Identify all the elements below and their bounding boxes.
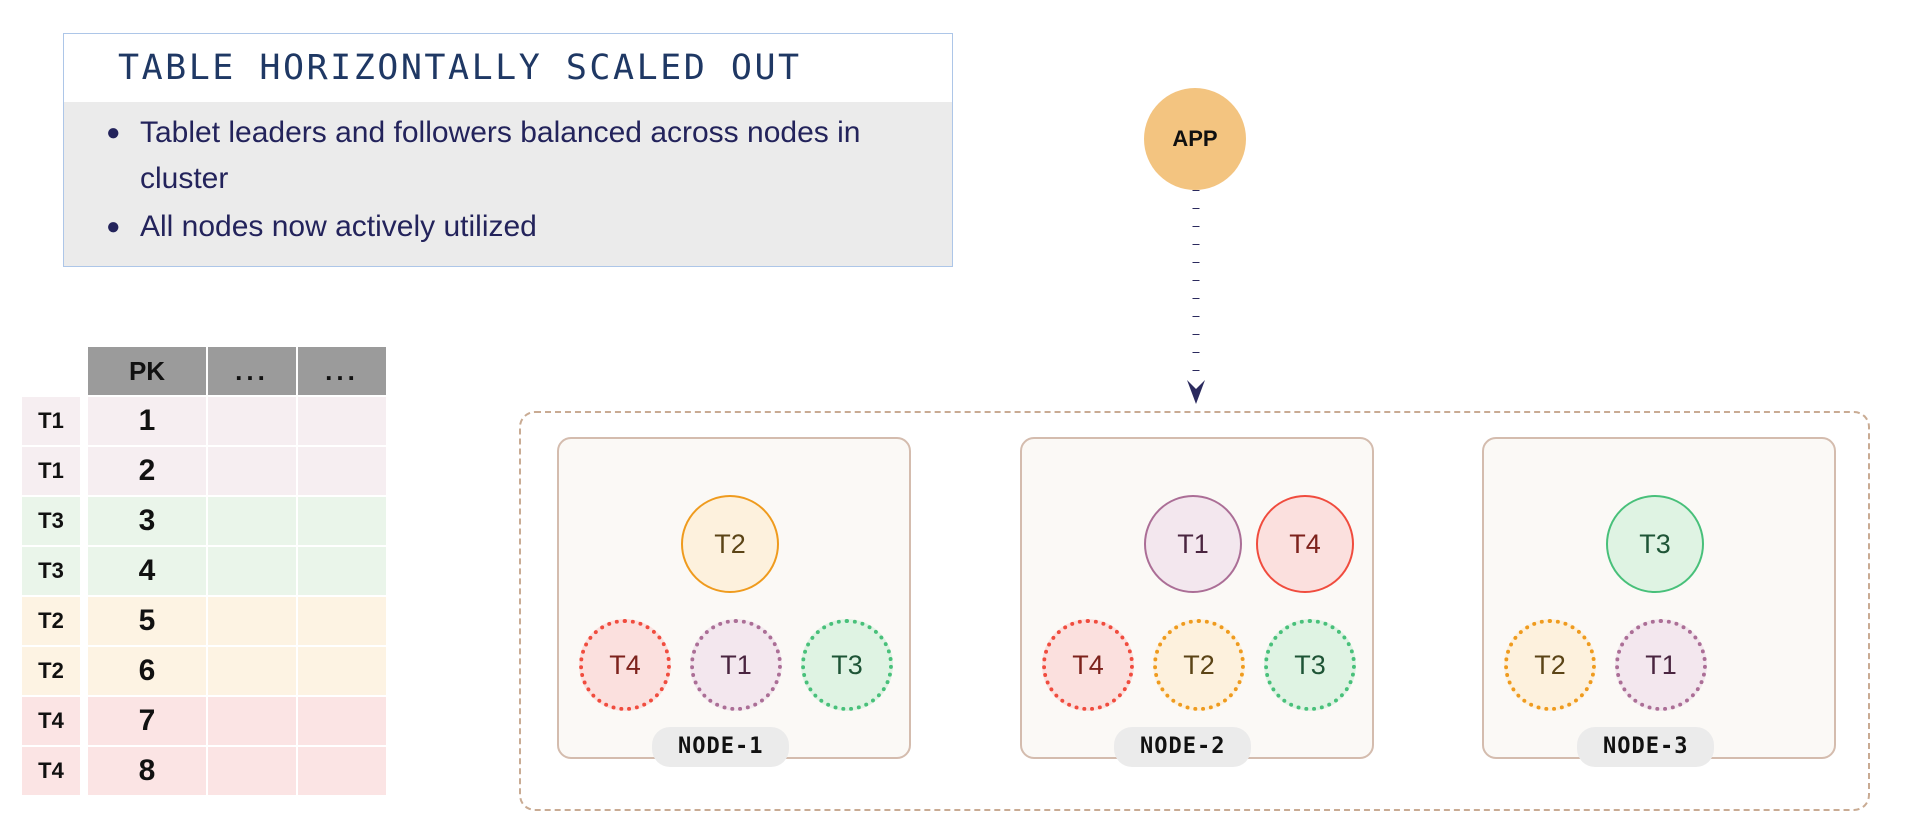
row-pk-value: 8 [88, 747, 206, 795]
table-spacer-cell [82, 747, 86, 795]
node-box-3[interactable]: T3T2T1 [1482, 437, 1836, 759]
table-row: T48 [22, 747, 386, 795]
tablet-leader-t3[interactable]: T3 [1606, 495, 1704, 593]
table-spacer-cell [82, 347, 86, 395]
cluster-container: T2T4T1T3NODE-1T1T4T4T2T3NODE-2T3T2T1NODE… [519, 411, 1870, 811]
page-title: TABLE HORIZONTALLY SCALED OUT [64, 34, 952, 102]
node-box-1[interactable]: T2T4T1T3 [557, 437, 911, 759]
tablet-distribution-table: PK......T11T12T33T34T25T26T47T48 [20, 345, 388, 797]
tablet-leader-t4[interactable]: T4 [1256, 495, 1354, 593]
row-tablet-tag: T1 [22, 397, 80, 445]
row-pk-value: 7 [88, 697, 206, 745]
table-row: T34 [22, 547, 386, 595]
row-pk-value: 3 [88, 497, 206, 545]
bullet-text: All nodes now actively utilized [140, 204, 537, 252]
tablet-follower-t1[interactable]: T1 [1615, 619, 1707, 711]
tablet-follower-t4[interactable]: T4 [579, 619, 671, 711]
row-pk-value: 5 [88, 597, 206, 645]
node-label-1: NODE-1 [652, 727, 789, 767]
table: PK......T11T12T33T34T25T26T47T48 [20, 345, 388, 797]
row-data-cell [208, 447, 296, 495]
table-row: T47 [22, 697, 386, 745]
table-row: T11 [22, 397, 386, 445]
row-data-cell [208, 547, 296, 595]
table-column-header: ... [298, 347, 386, 395]
app-label: APP [1172, 126, 1217, 152]
row-pk-value: 4 [88, 547, 206, 595]
row-data-cell [208, 647, 296, 695]
app-to-cluster-arrow-icon [1185, 190, 1207, 410]
table-corner-cell [22, 347, 80, 395]
bullet-text: Tablet leaders and followers balanced ac… [140, 110, 940, 204]
callout-bullet-list: ● Tablet leaders and followers balanced … [64, 102, 952, 266]
node-label-2: NODE-2 [1114, 727, 1251, 767]
table-row: T33 [22, 497, 386, 545]
app-node: APP [1144, 88, 1246, 190]
row-data-cell [208, 747, 296, 795]
row-tablet-tag: T3 [22, 497, 80, 545]
node-box-2[interactable]: T1T4T4T2T3 [1020, 437, 1374, 759]
bullet-dot-icon: ● [106, 110, 140, 156]
tablet-follower-t4[interactable]: T4 [1042, 619, 1134, 711]
table-column-header: ... [208, 347, 296, 395]
table-spacer-cell [82, 497, 86, 545]
tablet-follower-t3[interactable]: T3 [801, 619, 893, 711]
row-data-cell [298, 747, 386, 795]
table-spacer-cell [82, 697, 86, 745]
table-row: T25 [22, 597, 386, 645]
tablet-follower-t1[interactable]: T1 [690, 619, 782, 711]
tablet-follower-t2[interactable]: T2 [1504, 619, 1596, 711]
callout-box: TABLE HORIZONTALLY SCALED OUT ● Tablet l… [63, 33, 953, 267]
row-data-cell [208, 697, 296, 745]
table-header-row: PK...... [22, 347, 386, 395]
tablet-follower-t3[interactable]: T3 [1264, 619, 1356, 711]
row-data-cell [298, 597, 386, 645]
table-row: T26 [22, 647, 386, 695]
tablet-leader-t1[interactable]: T1 [1144, 495, 1242, 593]
table-spacer-cell [82, 397, 86, 445]
row-data-cell [298, 447, 386, 495]
list-item: ● All nodes now actively utilized [64, 204, 952, 252]
node-label-3: NODE-3 [1577, 727, 1714, 767]
row-tablet-tag: T4 [22, 697, 80, 745]
row-pk-value: 2 [88, 447, 206, 495]
table-spacer-cell [82, 547, 86, 595]
table-column-header: PK [88, 347, 206, 395]
row-data-cell [208, 397, 296, 445]
row-pk-value: 1 [88, 397, 206, 445]
row-tablet-tag: T3 [22, 547, 80, 595]
list-item: ● Tablet leaders and followers balanced … [64, 110, 952, 204]
row-data-cell [298, 397, 386, 445]
row-data-cell [298, 497, 386, 545]
table-row: T12 [22, 447, 386, 495]
row-data-cell [298, 547, 386, 595]
tablet-leader-t2[interactable]: T2 [681, 495, 779, 593]
tablet-follower-t2[interactable]: T2 [1153, 619, 1245, 711]
table-spacer-cell [82, 447, 86, 495]
row-tablet-tag: T2 [22, 597, 80, 645]
row-data-cell [298, 697, 386, 745]
row-tablet-tag: T2 [22, 647, 80, 695]
row-tablet-tag: T1 [22, 447, 80, 495]
table-spacer-cell [82, 597, 86, 645]
row-tablet-tag: T4 [22, 747, 80, 795]
table-spacer-cell [82, 647, 86, 695]
row-data-cell [208, 597, 296, 645]
row-pk-value: 6 [88, 647, 206, 695]
bullet-dot-icon: ● [106, 204, 140, 250]
row-data-cell [208, 497, 296, 545]
row-data-cell [298, 647, 386, 695]
